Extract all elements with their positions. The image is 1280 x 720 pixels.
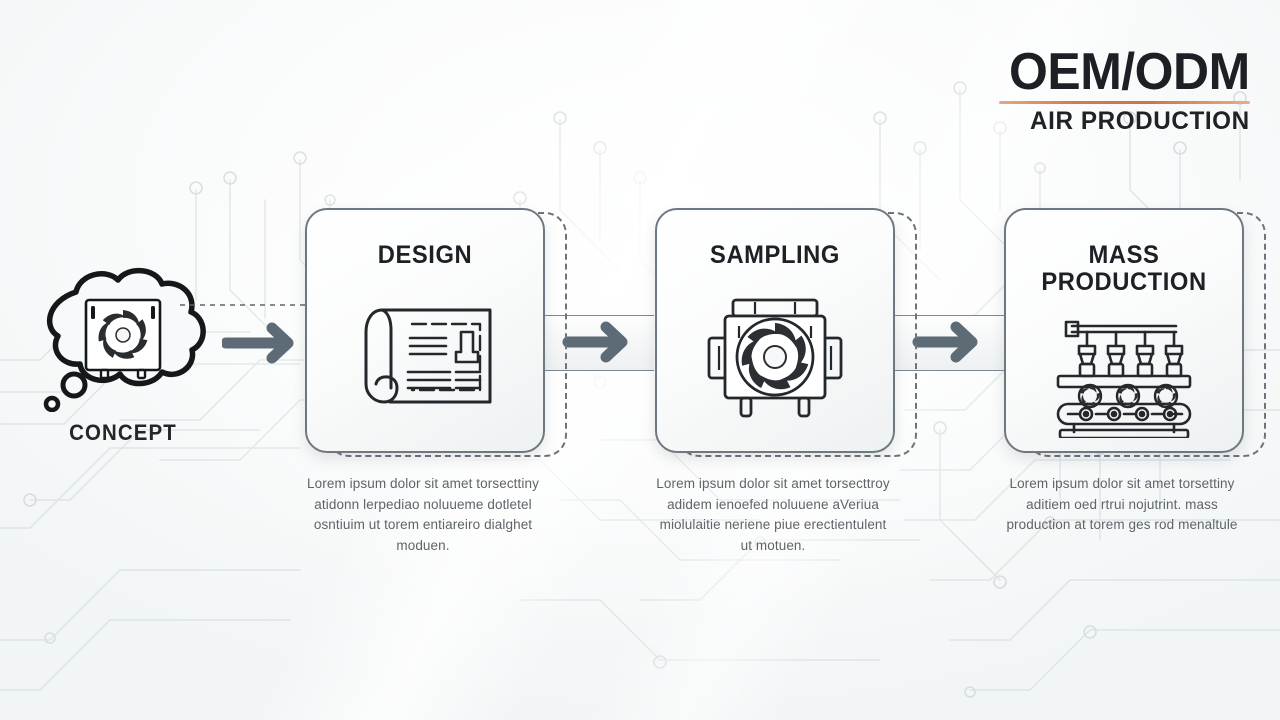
step-caption-design: Lorem ipsum dolor sit amet torsecttiny a…	[305, 474, 541, 556]
assembly-line-icon	[1044, 318, 1204, 443]
step-card-mass-production[interactable]: MASS PRODUCTION	[1004, 208, 1244, 453]
brand-accent-rule	[999, 101, 1250, 104]
brand-title: OEM/ODM	[1009, 46, 1250, 98]
step-card-sampling[interactable]: SAMPLING	[655, 208, 895, 453]
step-card-design[interactable]: DESIGN	[305, 208, 545, 453]
step-title-line-1: MASS	[1012, 242, 1236, 269]
step-title-mass-production: MASS PRODUCTION	[1012, 242, 1236, 296]
step-caption-sampling: Lorem ipsum dolor sit amet torsecttroy a…	[655, 474, 891, 556]
step-caption-mass-production: Lorem ipsum dolor sit amet torsettiny ad…	[1004, 474, 1240, 536]
blueprint-scroll-icon	[350, 298, 500, 418]
step-title-line-2: PRODUCTION	[1012, 269, 1236, 296]
thought-bubble-fan-icon	[28, 262, 218, 417]
brand-subtitle: AIR PRODUCTION	[1007, 109, 1250, 134]
step-title-sampling: SAMPLING	[663, 242, 887, 269]
concept-stage[interactable]: CONCEPT	[28, 262, 218, 462]
arrow-concept-to-design	[222, 320, 298, 371]
brand-wordmark: OEM/ODM AIR PRODUCTION	[999, 46, 1250, 134]
infographic-canvas: OEM/ODM AIR PRODUCTION	[0, 0, 1280, 720]
dashed-connector-concept-design	[180, 296, 310, 316]
fan-module-icon	[700, 298, 850, 425]
step-title-design: DESIGN	[313, 242, 537, 269]
concept-label: CONCEPT	[35, 420, 212, 446]
